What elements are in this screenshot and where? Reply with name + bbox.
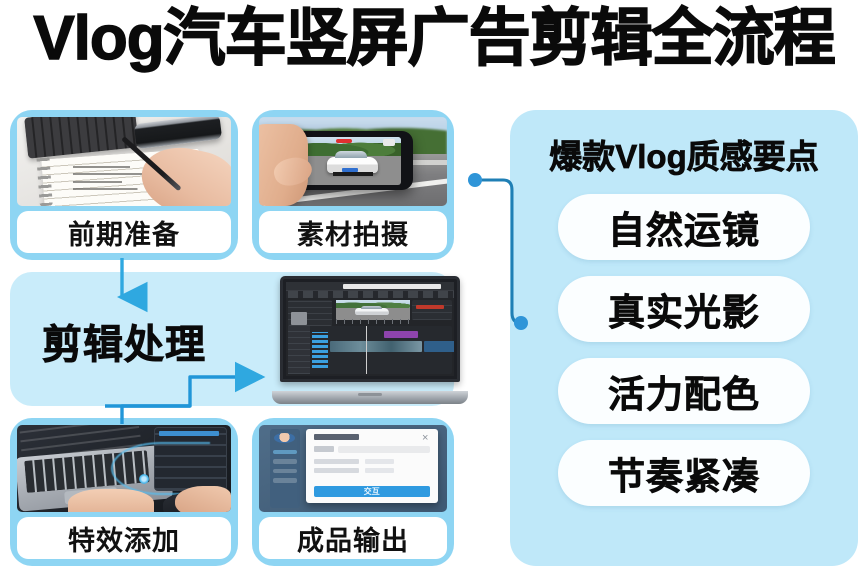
phone-object bbox=[134, 117, 222, 149]
export-dialog-ui-photo: × 交互 bbox=[259, 425, 447, 512]
dialog-field-label bbox=[314, 446, 334, 452]
hand-object bbox=[135, 140, 231, 206]
hand-object bbox=[175, 486, 231, 512]
tip-pill-label-2: 真实光影 bbox=[608, 282, 760, 336]
editor-menubar bbox=[286, 282, 454, 291]
flow-step-label-edit: 剪辑处理 bbox=[42, 312, 206, 370]
flow-step-label-prep: 前期准备 bbox=[17, 211, 231, 253]
timeline-track-headers bbox=[288, 326, 310, 374]
page-title: Vlog汽车竖屏广告剪辑全流程 bbox=[0, 8, 868, 70]
dialog-option-row-1 bbox=[314, 459, 359, 464]
flow-step-card-prep[interactable]: 前期准备 bbox=[10, 110, 238, 260]
editor-preview-monitor bbox=[336, 300, 410, 320]
timeline-clip-audio bbox=[330, 355, 454, 363]
dialog-title bbox=[314, 434, 359, 441]
dialog-option-row-2 bbox=[314, 468, 359, 473]
flow-step-label-shoot: 素材拍摄 bbox=[259, 211, 447, 253]
flow-step-card-export[interactable]: × 交互 成品输出 bbox=[252, 418, 454, 566]
tip-pill-label-3: 活力配色 bbox=[608, 364, 760, 418]
laptop-hands-typing-desk-photo bbox=[17, 425, 231, 512]
preview-white-car bbox=[355, 308, 389, 315]
fingers-typing bbox=[68, 489, 154, 512]
sidebar-item-4 bbox=[273, 478, 296, 483]
timeline-playhead bbox=[366, 326, 367, 374]
shutter-icon bbox=[383, 139, 394, 146]
timeline-clip-blue bbox=[424, 341, 454, 352]
dialog-confirm-button: 交互 bbox=[314, 486, 430, 497]
timeline-clip-title bbox=[384, 331, 418, 338]
infographic-root: Vlog汽车竖屏广告剪辑全流程 前期准备 bbox=[0, 0, 868, 575]
export-dialog: × 交互 bbox=[306, 429, 438, 503]
flow-step-label-export: 成品输出 bbox=[259, 517, 447, 559]
screen-car-plate bbox=[342, 168, 358, 171]
tips-panel: 爆款Vlog质感要点 自然运镜 真实光影 活力配色 节奏紧凑 bbox=[510, 110, 858, 566]
laptop-lid bbox=[280, 276, 460, 382]
editor-effects-panel bbox=[412, 300, 452, 320]
tip-pill-4[interactable]: 节奏紧凑 bbox=[558, 440, 810, 506]
tip-pill-1[interactable]: 自然运镜 bbox=[558, 194, 810, 260]
tip-pill-3[interactable]: 活力配色 bbox=[558, 358, 810, 424]
phone-screen bbox=[299, 137, 401, 185]
app-sidebar bbox=[270, 429, 300, 507]
laptop-video-editor-illustration bbox=[272, 276, 468, 404]
video-editor-ui bbox=[286, 282, 454, 376]
flow-step-card-effects[interactable]: 特效添加 bbox=[10, 418, 238, 566]
record-indicator-icon bbox=[336, 139, 352, 143]
editor-timeline bbox=[288, 326, 452, 374]
tips-panel-title: 爆款Vlog质感要点 bbox=[549, 130, 819, 178]
flow-step-card-shoot[interactable]: 素材拍摄 bbox=[252, 110, 454, 260]
editor-toolbar bbox=[286, 291, 454, 298]
glow-dot bbox=[139, 474, 149, 484]
sidebar-item-3 bbox=[273, 469, 296, 474]
dialog-value-2 bbox=[365, 468, 394, 473]
sidebar-item-2 bbox=[273, 459, 296, 464]
flow-step-label-effects: 特效添加 bbox=[17, 517, 231, 559]
dialog-input-field bbox=[338, 446, 430, 453]
editor-project-panel bbox=[288, 300, 332, 326]
tip-pill-label-1: 自然运镜 bbox=[608, 200, 760, 254]
editor-time-ruler bbox=[336, 319, 410, 324]
timeline-clip-video bbox=[330, 341, 422, 352]
close-icon: × bbox=[421, 434, 430, 443]
tip-pill-label-4: 节奏紧凑 bbox=[608, 446, 760, 500]
notebook-keyboard-phone-photo bbox=[17, 117, 231, 206]
avatar bbox=[274, 433, 294, 443]
hand-holding-phone-filming-car-photo bbox=[259, 117, 447, 206]
tip-pill-2[interactable]: 真实光影 bbox=[558, 276, 810, 342]
laptop-base bbox=[272, 391, 468, 404]
connector-dot-start bbox=[468, 173, 482, 187]
timeline-audio-meter bbox=[312, 332, 328, 368]
dialog-value-1 bbox=[365, 459, 394, 464]
sidebar-item-1 bbox=[273, 450, 296, 455]
